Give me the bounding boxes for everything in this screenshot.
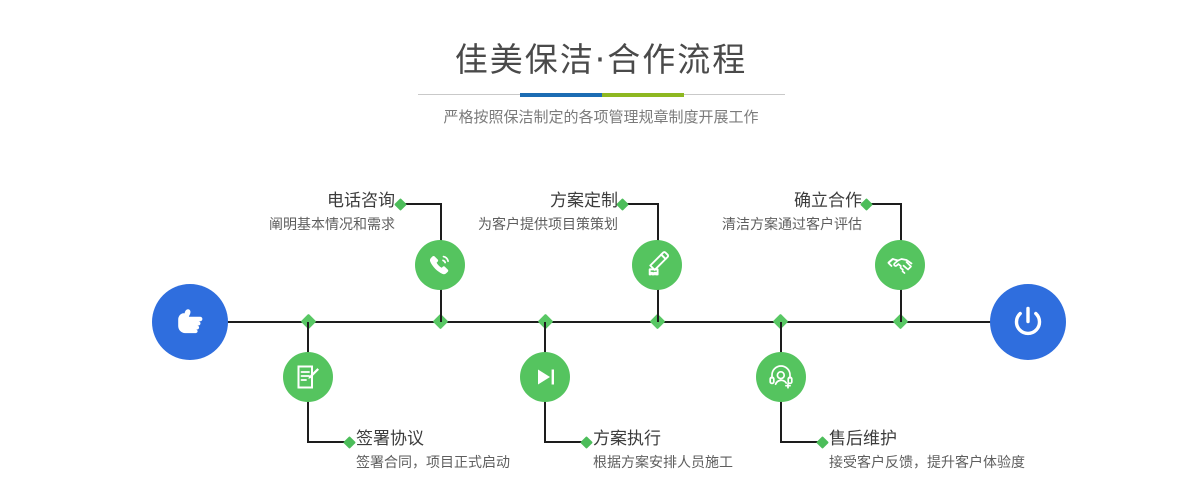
connector-dot-step-2: [343, 436, 356, 449]
handshake-icon: [885, 250, 915, 280]
connector-step-5-vertical: [900, 203, 902, 241]
connector-step-1-stem: [440, 288, 442, 322]
step-desc-1: 阐明基本情况和需求: [150, 214, 395, 236]
connector-dot-step-4: [580, 436, 593, 449]
step-title-1: 电话咨询: [150, 190, 395, 212]
step-title-2: 签署协议: [356, 428, 510, 450]
step-icon-4: [520, 352, 570, 402]
step-title-3: 方案定制: [400, 190, 618, 212]
timeline-start-node: [152, 284, 228, 360]
step-title-4: 方案执行: [593, 428, 733, 450]
step-icon-5: [875, 240, 925, 290]
connector-dot-step-6: [816, 436, 829, 449]
connector-step-3-stem: [657, 288, 659, 322]
step-label-3: 方案定制 为客户提供项目策策划: [400, 190, 618, 236]
step-title-5: 确立合作: [650, 190, 862, 212]
step-icon-3: [632, 240, 682, 290]
step-label-1: 电话咨询 阐明基本情况和需求: [150, 190, 395, 236]
step-desc-6: 接受客户反馈，提升客户体验度: [829, 452, 1025, 474]
step-desc-4: 根据方案安排人员施工: [593, 452, 733, 474]
step-desc-5: 清洁方案通过客户评估: [650, 214, 862, 236]
step-desc-2: 签署合同，项目正式启动: [356, 452, 510, 474]
document-edit-icon: [294, 363, 322, 391]
connector-dot-step-3: [616, 198, 629, 211]
step-icon-6: [756, 352, 806, 402]
customer-support-icon: [767, 363, 795, 391]
process-flow-infographic: 佳美保洁·合作流程 严格按照保洁制定的各项管理规章制度开展工作: [0, 0, 1202, 502]
connector-dot-step-5: [860, 198, 873, 211]
pencil-ruler-icon: [642, 250, 672, 280]
play-execute-icon: [531, 363, 559, 391]
step-label-5: 确立合作 清洁方案通过客户评估: [650, 190, 862, 236]
page-title: 佳美保洁·合作流程: [0, 38, 1202, 82]
phone-call-icon: [425, 250, 455, 280]
step-label-4: 方案执行 根据方案安排人员施工: [593, 428, 733, 474]
divider-segment-green: [602, 93, 684, 97]
step-label-2: 签署协议 签署合同，项目正式启动: [356, 428, 510, 474]
step-icon-1: [415, 240, 465, 290]
step-label-6: 售后维护 接受客户反馈，提升客户体验度: [829, 428, 1025, 474]
power-icon: [1007, 301, 1049, 343]
pointing-hand-icon: [170, 302, 210, 342]
divider-segment-blue: [520, 93, 602, 97]
page-subtitle: 严格按照保洁制定的各项管理规章制度开展工作: [0, 105, 1202, 129]
title-divider: [418, 93, 785, 97]
step-desc-3: 为客户提供项目策策划: [400, 214, 618, 236]
step-icon-2: [283, 352, 333, 402]
timeline-end-node: [990, 284, 1066, 360]
step-title-6: 售后维护: [829, 428, 1025, 450]
connector-step-5-stem: [900, 288, 902, 322]
